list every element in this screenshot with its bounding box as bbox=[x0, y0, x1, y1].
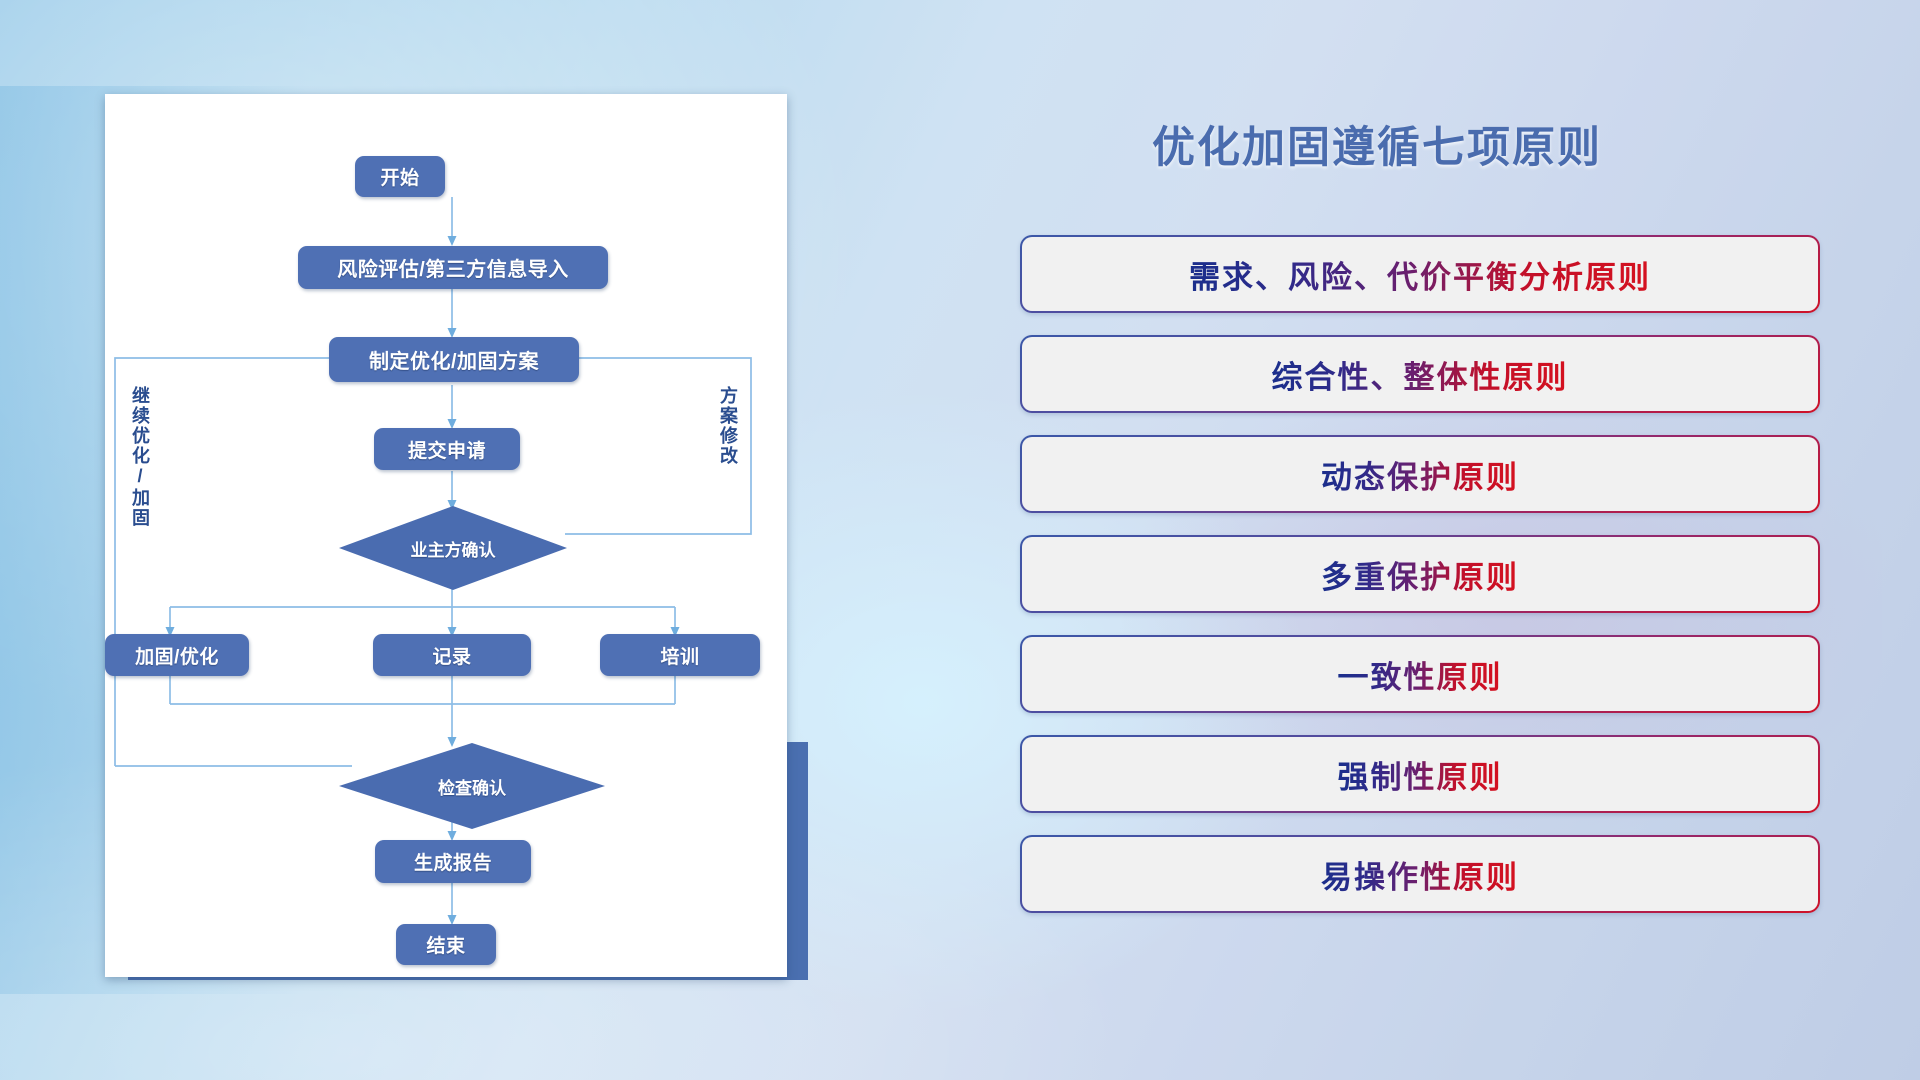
principle-label: 综合性、整体性原则 bbox=[1272, 352, 1569, 397]
flow-node-generate-report[interactable]: 生成报告 bbox=[375, 840, 531, 883]
principles-title: 优化加固遵循七项原则 bbox=[1152, 113, 1602, 175]
principle-card[interactable]: 易操作性原则 bbox=[1020, 835, 1820, 913]
principles-panel: 优化加固遵循七项原则 需求、风险、代价平衡分析原则 综合性、整体性原则 动态保护… bbox=[1020, 96, 1820, 996]
flow-node-label: 制定优化/加固方案 bbox=[369, 345, 539, 374]
flow-node-start[interactable]: 开始 bbox=[355, 156, 445, 197]
flow-node-label: 结束 bbox=[426, 931, 465, 958]
principle-label: 需求、风险、代价平衡分析原则 bbox=[1189, 252, 1651, 297]
flow-node-label: 记录 bbox=[432, 642, 471, 669]
principle-card[interactable]: 多重保护原则 bbox=[1020, 535, 1820, 613]
principle-label: 易操作性原则 bbox=[1321, 852, 1519, 897]
flow-edge-label-continue-optimize: 继续优化/加固 bbox=[127, 386, 153, 528]
flow-node-end[interactable]: 结束 bbox=[396, 924, 496, 965]
principle-label: 强制性原则 bbox=[1338, 752, 1503, 797]
flow-node-label: 加固/优化 bbox=[135, 642, 219, 669]
flow-node-label: 检查确认 bbox=[438, 774, 506, 799]
flow-node-label: 提交申请 bbox=[408, 436, 486, 463]
principle-label: 多重保护原则 bbox=[1321, 552, 1519, 597]
flow-node-label: 生成报告 bbox=[414, 848, 492, 875]
principles-list: 需求、风险、代价平衡分析原则 综合性、整体性原则 动态保护原则 多重保护原则 一… bbox=[1020, 235, 1820, 935]
flow-node-reinforce-optimize[interactable]: 加固/优化 bbox=[105, 634, 249, 676]
flow-node-label: 业主方确认 bbox=[411, 536, 496, 561]
principle-card[interactable]: 动态保护原则 bbox=[1020, 435, 1820, 513]
principle-card[interactable]: 综合性、整体性原则 bbox=[1020, 335, 1820, 413]
flow-node-label: 风险评估/第三方信息导入 bbox=[337, 253, 569, 282]
principle-label: 一致性原则 bbox=[1338, 652, 1503, 697]
principle-card[interactable]: 需求、风险、代价平衡分析原则 bbox=[1020, 235, 1820, 313]
principle-card[interactable]: 强制性原则 bbox=[1020, 735, 1820, 813]
flow-node-risk-assessment[interactable]: 风险评估/第三方信息导入 bbox=[298, 246, 608, 289]
flow-node-label: 开始 bbox=[380, 163, 419, 190]
flow-node-label: 培训 bbox=[660, 642, 699, 669]
flow-edge-label-plan-revision: 方案修改 bbox=[715, 386, 741, 466]
flow-node-submit-application[interactable]: 提交申请 bbox=[374, 428, 520, 470]
principle-card[interactable]: 一致性原则 bbox=[1020, 635, 1820, 713]
flow-node-record[interactable]: 记录 bbox=[373, 634, 531, 676]
flow-node-training[interactable]: 培训 bbox=[600, 634, 760, 676]
flowchart: 开始 风险评估/第三方信息导入 制定优化/加固方案 提交申请 业主方确认 加固/… bbox=[105, 94, 787, 977]
flow-node-make-plan[interactable]: 制定优化/加固方案 bbox=[329, 337, 579, 382]
slide-canvas: 开始 风险评估/第三方信息导入 制定优化/加固方案 提交申请 业主方确认 加固/… bbox=[0, 0, 1920, 1080]
principle-label: 动态保护原则 bbox=[1321, 452, 1519, 497]
